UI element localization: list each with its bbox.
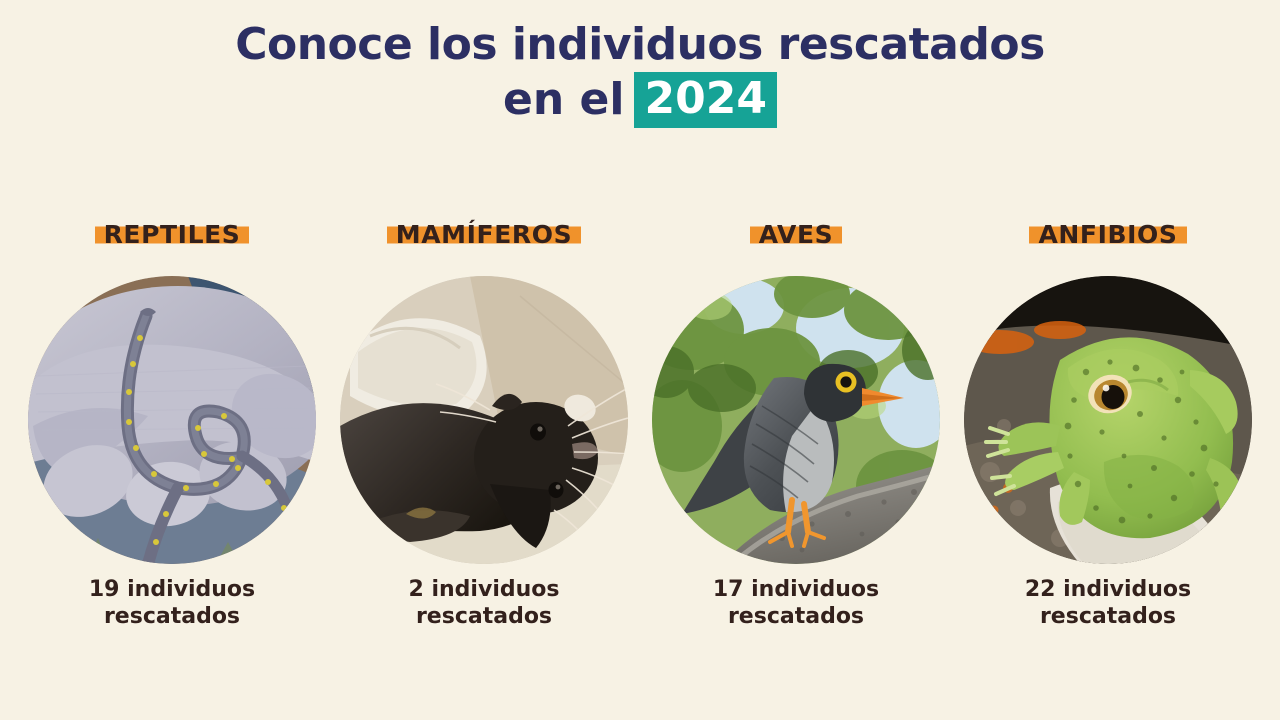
category-photo-reptiles xyxy=(28,276,316,564)
snake-in-gloved-hand-illustration xyxy=(28,276,316,564)
category-label-mamiferos: MAMÍFEROS xyxy=(387,220,581,250)
category-label-aves: AVES xyxy=(750,220,842,250)
category-label-anfibios: ANFIBIOS xyxy=(1029,220,1186,250)
caption-line-1: 22 individuos xyxy=(962,576,1254,603)
caption-line-2: rescatados xyxy=(338,603,630,630)
page-title-prefix: en el xyxy=(503,73,634,127)
category-caption-reptiles: 19 individuos rescatados xyxy=(26,576,318,630)
caption-line-1: 2 individuos xyxy=(338,576,630,603)
category-label-wrap-reptiles: REPTILES xyxy=(95,210,250,260)
category-label-reptiles: REPTILES xyxy=(95,220,250,250)
year-badge: 2024 xyxy=(634,72,776,128)
page-title-line-1: Conoce los individuos rescatados xyxy=(0,18,1280,72)
caption-line-2: rescatados xyxy=(26,603,318,630)
category-photo-mamiferos xyxy=(340,276,628,564)
caption-line-2: rescatados xyxy=(650,603,942,630)
category-column-anfibios: ANFIBIOS xyxy=(962,210,1254,630)
category-label-wrap-mamiferos: MAMÍFEROS xyxy=(387,210,581,260)
category-caption-anfibios: 22 individuos rescatados xyxy=(962,576,1254,630)
gray-thrush-illustration xyxy=(652,276,940,564)
category-photo-aves xyxy=(652,276,940,564)
caption-line-1: 19 individuos xyxy=(26,576,318,603)
category-caption-mamiferos: 2 individuos rescatados xyxy=(338,576,630,630)
category-column-aves: AVES xyxy=(650,210,942,630)
page-title-line-2: en el 2024 xyxy=(0,72,1280,128)
caption-line-1: 17 individuos xyxy=(650,576,942,603)
category-label-wrap-aves: AVES xyxy=(750,210,842,260)
category-column-reptiles: REPTILES xyxy=(26,210,318,630)
category-label-wrap-anfibios: ANFIBIOS xyxy=(1029,210,1186,260)
page-header: Conoce los individuos rescatados en el 2… xyxy=(0,0,1280,128)
category-column-mamiferos: MAMÍFEROS xyxy=(338,210,630,630)
green-tree-frog-illustration xyxy=(964,276,1252,564)
category-photo-anfibios xyxy=(964,276,1252,564)
category-grid: REPTILES xyxy=(0,210,1280,630)
caption-line-2: rescatados xyxy=(962,603,1254,630)
dark-small-mammal-illustration xyxy=(340,276,628,564)
category-caption-aves: 17 individuos rescatados xyxy=(650,576,942,630)
